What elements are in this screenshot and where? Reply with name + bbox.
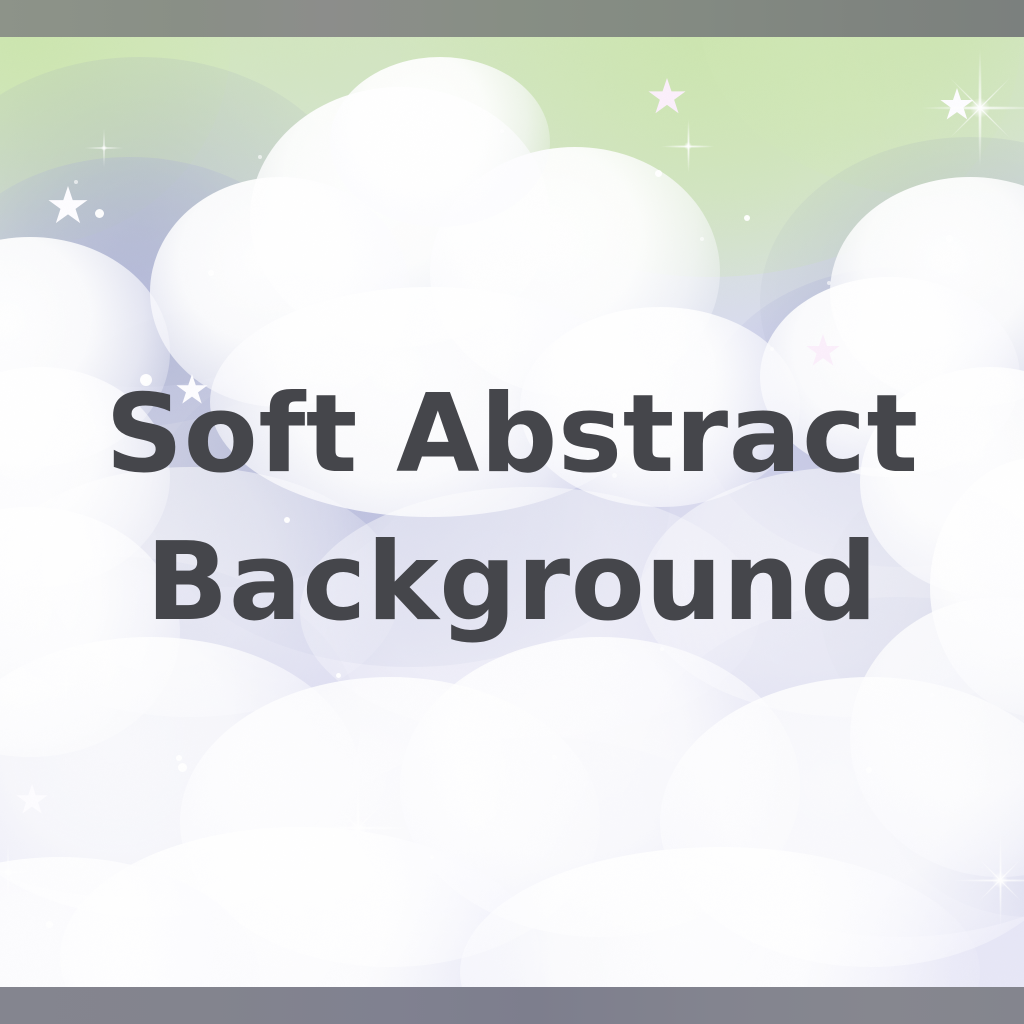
speck: [176, 755, 182, 761]
speck: [552, 755, 557, 760]
cloud-bottom-band-b: [460, 847, 980, 987]
green-wash-top-left: [0, 37, 230, 247]
bottom-letterbox-bar: [0, 987, 1024, 1024]
speck: [284, 517, 290, 523]
speck: [74, 180, 78, 184]
speck: [655, 170, 662, 177]
cloud-shadow-right: [700, 267, 1024, 567]
sparkle-upper-left-icon: [84, 128, 124, 168]
speck: [660, 647, 664, 651]
speck: [946, 235, 953, 242]
speck: [336, 673, 341, 678]
cloud-shadow-upper-left: [0, 157, 320, 427]
cloud-main-top-cap: [330, 57, 550, 227]
cloud-main-base-right: [520, 307, 800, 507]
cloud-shadow-bottom-center: [300, 737, 780, 987]
speck: [208, 270, 214, 276]
cloud-shadow-lower-left: [0, 557, 360, 897]
haze-right-mid: [820, 457, 1024, 757]
cloud-mid-wash-center: [300, 487, 760, 737]
green-wash-top-right: [700, 37, 1024, 197]
star-top-center-pink-icon: [648, 78, 686, 116]
star-mid-left-icon: [176, 374, 208, 406]
speck: [900, 289, 905, 294]
sparkle-right-low-icon: [952, 832, 1024, 928]
cloud-shadow-deep-right: [880, 657, 1024, 917]
haze-upper-right: [760, 137, 1024, 467]
speck: [770, 347, 774, 351]
cloud-right-edge: [930, 457, 1024, 717]
title-line-2: Background: [146, 501, 878, 665]
cloud-low-right: [660, 677, 1024, 967]
green-wash-top-center: [400, 37, 1020, 277]
speck: [500, 129, 504, 133]
star-top-right-small-icon: [940, 88, 974, 122]
speck: [827, 281, 831, 285]
speck: [930, 693, 934, 697]
cloud-left-lower: [0, 507, 180, 757]
cloud-main-base: [210, 287, 650, 517]
cloud-left-mid: [0, 367, 170, 587]
cloud-main-crown: [250, 87, 550, 347]
sparkle-mid-left-icon: [43, 661, 89, 707]
top-letterbox-bar: [0, 0, 1024, 37]
cloud-bottom-band-c: [0, 857, 260, 987]
speck: [95, 209, 104, 218]
cloud-right-mid: [760, 277, 1020, 477]
sparkle-bottom-mid-icon: [302, 772, 414, 884]
speck: [118, 897, 123, 902]
cloud-right-upper: [830, 177, 1024, 407]
cloud-mid-wash-right: [640, 467, 1024, 717]
speck: [744, 215, 750, 221]
cloud-shadow-center: [150, 337, 670, 667]
cloud-mid-wash-left: [0, 467, 400, 717]
sparkle-left-low-icon: [0, 842, 38, 902]
cloud-low-center-left: [180, 677, 600, 967]
haze-center-left: [40, 307, 420, 587]
star-right-pink-icon: [806, 334, 840, 368]
speck: [140, 374, 152, 386]
speck: [46, 921, 53, 928]
title-block: Soft Abstract Background: [0, 37, 1024, 987]
title-line-1: Soft Abstract: [105, 353, 918, 517]
speck: [612, 473, 617, 478]
paper-grain-overlay: [0, 37, 1024, 987]
star-upper-left-icon: [48, 186, 88, 226]
cloud-low-far-right: [850, 597, 1024, 877]
cloud-low-center: [400, 637, 800, 937]
cloud-main-left-lobe: [150, 177, 410, 407]
cloud-shadow-lower-right: [640, 597, 1024, 937]
watercolor-sky-artwork: Soft Abstract Background: [0, 37, 1024, 987]
speck: [700, 237, 704, 241]
haze-upper-left: [0, 57, 360, 387]
speck: [430, 855, 434, 859]
speck: [258, 155, 262, 159]
background-artwork-canvas: Soft Abstract Background: [0, 0, 1024, 1024]
cloud-main-right-lobe: [430, 147, 720, 397]
cloud-right-lower: [860, 367, 1024, 597]
cloud-low-left: [0, 637, 360, 917]
star-lower-left-icon: [16, 784, 48, 816]
sparkle-top-right-icon: [920, 48, 1024, 168]
cloud-left-upper: [0, 237, 170, 467]
sparkle-top-center-icon: [661, 119, 715, 173]
cloud-bottom-band-a: [60, 827, 540, 987]
speck: [866, 767, 872, 773]
speck: [178, 763, 187, 772]
